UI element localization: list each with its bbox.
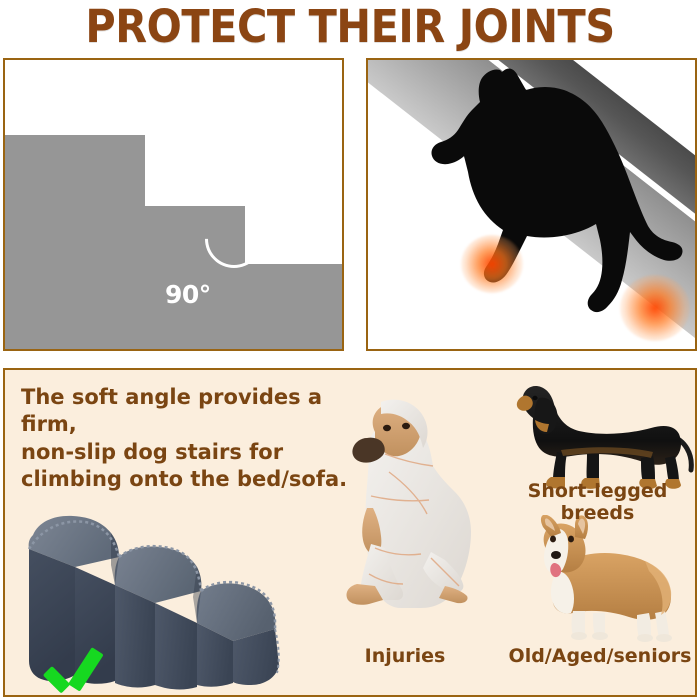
ramp-illustration bbox=[368, 60, 695, 349]
panel-product-solution: The soft angle provides a firm, non-slip… bbox=[3, 368, 697, 697]
photo-dog-in-recovery-suit bbox=[305, 388, 495, 643]
panel-slippery-ramp: Slippery, easy to fall bbox=[366, 58, 697, 351]
caption-injuries: Injuries bbox=[335, 645, 475, 667]
page-title: PROTECT THEIR JOINTS bbox=[28, 0, 672, 52]
check-mark-icon bbox=[50, 648, 104, 692]
stair-floor bbox=[245, 318, 344, 351]
stair-step-top bbox=[5, 135, 145, 351]
photo-corgi bbox=[513, 515, 693, 650]
dog-silhouette bbox=[390, 64, 690, 324]
infographic-root: PROTECT THEIR JOINTS 90° Difficulty of c… bbox=[0, 0, 700, 700]
caption-short-legged-breeds: Short-legged breeds bbox=[500, 480, 695, 525]
angle-label: 90° bbox=[165, 282, 211, 307]
stair-illustration: 90° bbox=[5, 60, 342, 349]
caption-old-aged-seniors: Old/Aged/seniors bbox=[500, 645, 697, 667]
panel-hard-stairs: 90° Difficulty of climbing bbox=[3, 58, 344, 351]
